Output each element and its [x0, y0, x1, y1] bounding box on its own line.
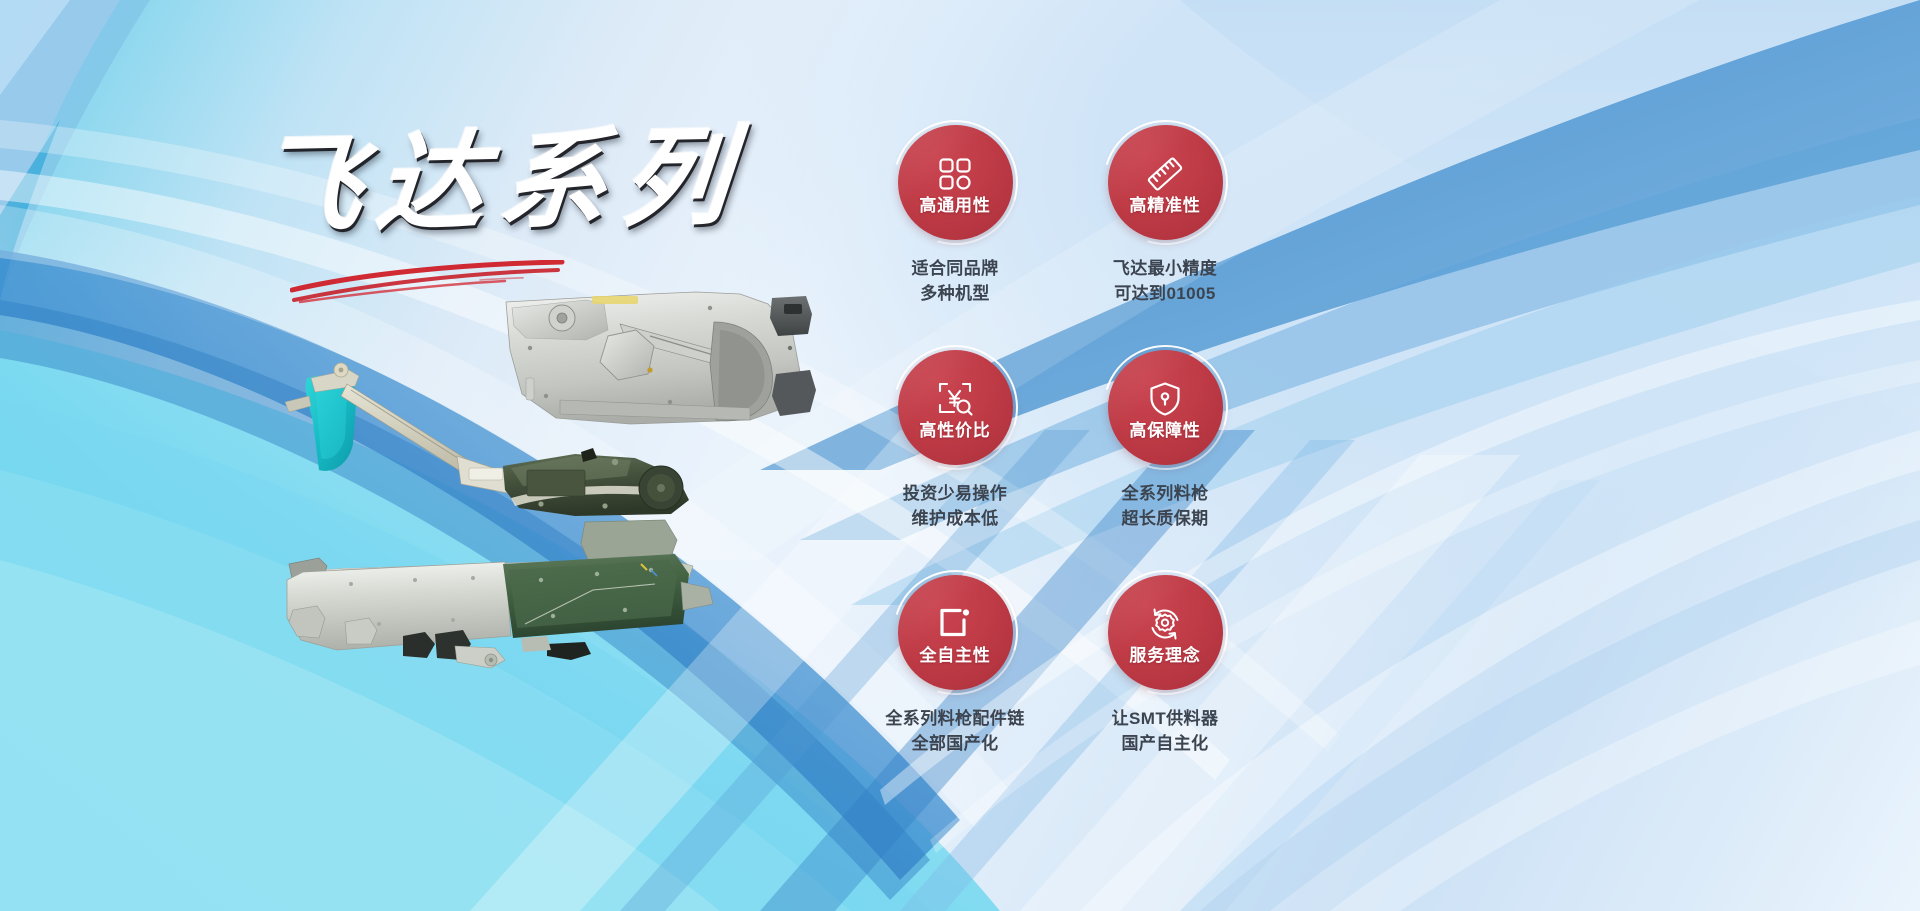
- feature-caption: 全系列料枪 超长质保期: [1122, 482, 1209, 531]
- shield-lock-icon: [1145, 379, 1185, 419]
- feature-label: 高精准性: [1129, 197, 1200, 214]
- feature-caption-line-1: 飞达最小精度: [1113, 257, 1217, 282]
- feature-caption: 全系列料枪配件链 全部国产化: [885, 707, 1024, 756]
- feature-item-independence[interactable]: 全自主性 全系列料枪配件链 全部国产化: [860, 575, 1050, 800]
- feature-badge[interactable]: 高保障性: [1108, 350, 1223, 465]
- feature-item-service[interactable]: 服务理念 让SMT供料器 国产自主化: [1070, 575, 1260, 800]
- product-image-long-silver-green-smt-feeder: [285, 518, 715, 678]
- feature-badge[interactable]: 高性价比: [898, 350, 1013, 465]
- feature-grid: 高通用性 适合同品牌 多种机型: [860, 125, 1260, 815]
- feature-badge[interactable]: 高精准性: [1108, 125, 1223, 240]
- feature-item-versatility[interactable]: 高通用性 适合同品牌 多种机型: [860, 125, 1050, 350]
- feature-item-precision[interactable]: 高精准性 飞达最小精度 可达到01005: [1070, 125, 1260, 350]
- feature-caption-line-2: 多种机型: [912, 282, 999, 307]
- gear-refresh-icon: [1145, 604, 1185, 644]
- feature-caption-line-1: 让SMT供料器: [1112, 707, 1219, 732]
- feature-badge[interactable]: 服务理念: [1108, 575, 1223, 690]
- feature-item-warranty[interactable]: 高保障性 全系列料枪 超长质保期: [1070, 350, 1260, 575]
- ruler-icon: [1145, 154, 1185, 194]
- feature-caption-line-2: 全部国产化: [885, 732, 1024, 757]
- feature-caption-line-1: 适合同品牌: [912, 257, 999, 282]
- feature-caption-line-2: 超长质保期: [1122, 507, 1209, 532]
- product-banner: 飞达系列: [0, 0, 1920, 911]
- feature-caption-line-1: 全系列料枪: [1122, 482, 1209, 507]
- feature-label: 高通用性: [919, 197, 990, 214]
- feature-caption: 让SMT供料器 国产自主化: [1112, 707, 1219, 756]
- page-title: 飞达系列: [239, 110, 721, 255]
- feature-caption-line-1: 全系列料枪配件链: [885, 707, 1024, 732]
- feature-badge[interactable]: 高通用性: [898, 125, 1013, 240]
- feature-label: 全自主性: [919, 647, 990, 664]
- feature-caption: 适合同品牌 多种机型: [912, 257, 999, 306]
- price-search-icon: [935, 379, 975, 419]
- grid-squares-icon: [935, 154, 975, 194]
- feature-label: 高保障性: [1129, 422, 1200, 439]
- feature-caption: 投资少易操作 维护成本低: [903, 482, 1007, 531]
- bracket-dot-icon: [935, 604, 975, 644]
- feature-caption-line-2: 国产自主化: [1112, 732, 1219, 757]
- product-image-teal-green-smt-feeder: [275, 358, 695, 518]
- feature-badge[interactable]: 全自主性: [898, 575, 1013, 690]
- feature-label: 服务理念: [1129, 647, 1200, 664]
- feature-caption-line-2: 可达到01005: [1113, 282, 1217, 307]
- feature-caption-line-1: 投资少易操作: [903, 482, 1007, 507]
- feature-caption: 飞达最小精度 可达到01005: [1113, 257, 1217, 306]
- feature-label: 高性价比: [919, 422, 990, 439]
- feature-caption-line-2: 维护成本低: [903, 507, 1007, 532]
- feature-item-value[interactable]: 高性价比 投资少易操作 维护成本低: [860, 350, 1050, 575]
